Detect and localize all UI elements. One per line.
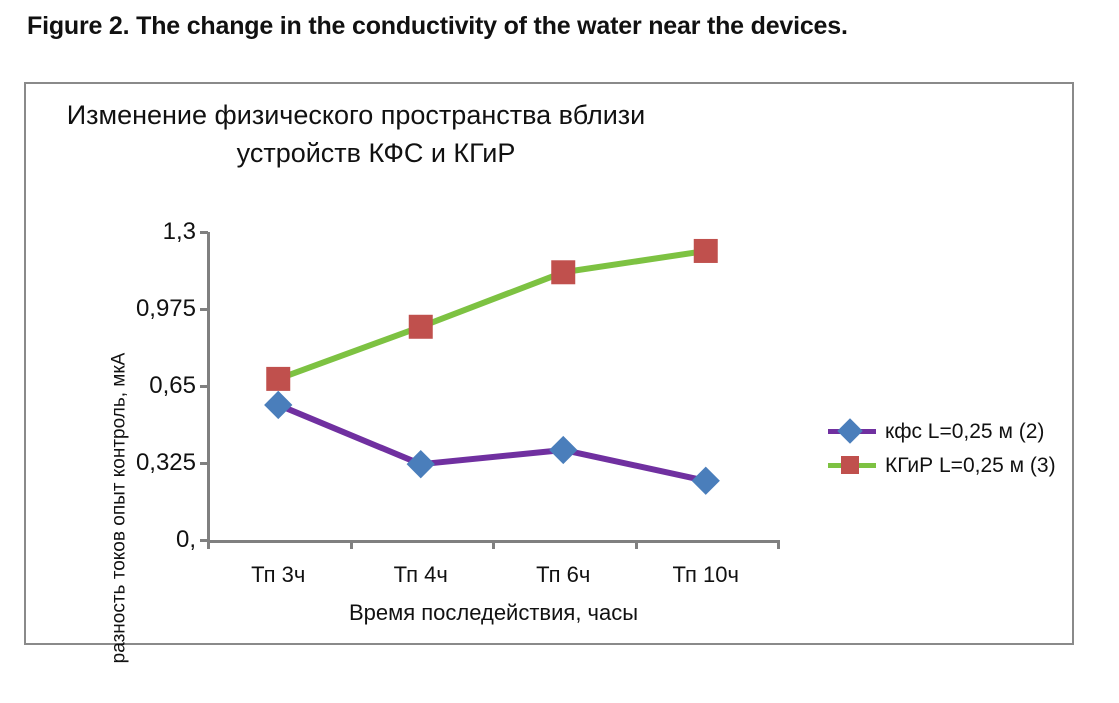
series-1 bbox=[264, 391, 720, 495]
x-tick-label: Тп 3ч bbox=[251, 562, 305, 588]
data-point-diamond bbox=[407, 450, 435, 478]
plot-area: 0,0,3250,650,9751,3 Тп 3чТп 4чТп 6чТп 10… bbox=[207, 232, 777, 540]
data-point-square bbox=[551, 260, 575, 284]
x-tick-label: Тп 6ч bbox=[536, 562, 590, 588]
legend-label: КГиР L=0,25 м (3) bbox=[885, 455, 1056, 476]
y-axis-title: разность токов опыт контроль, мкА bbox=[106, 313, 132, 703]
legend-label: кфс L=0,25 м (2) bbox=[885, 421, 1044, 442]
x-tick-label: Тп 4ч bbox=[394, 562, 448, 588]
legend-marker-diamond-icon bbox=[837, 418, 862, 443]
y-tick-label: 0,325 bbox=[136, 449, 196, 477]
data-point-diamond bbox=[692, 467, 720, 495]
chart-title-line-1: Изменение физического пространства вблиз… bbox=[26, 96, 726, 134]
figure-caption: Figure 2. The change in the conductivity… bbox=[27, 12, 1087, 41]
y-tick-label: 0,975 bbox=[136, 295, 196, 323]
legend-key-icon bbox=[828, 420, 876, 442]
legend-marker-square-icon bbox=[841, 456, 859, 474]
data-point-diamond bbox=[264, 391, 292, 419]
x-tick-label: Тп 10ч bbox=[673, 562, 739, 588]
legend-key-icon bbox=[828, 454, 876, 476]
data-point-square bbox=[694, 239, 718, 263]
chart-title: Изменение физического пространства вблиз… bbox=[26, 96, 726, 173]
y-tick-label: 0,65 bbox=[149, 372, 196, 400]
data-point-square bbox=[409, 315, 433, 339]
data-point-square bbox=[266, 367, 290, 391]
x-tick-mark bbox=[777, 540, 780, 549]
y-tick-label: 1,3 bbox=[163, 218, 196, 246]
y-tick-label: 0, bbox=[176, 526, 196, 554]
chart-title-line-2: устройств КФС и КГиР bbox=[26, 134, 726, 172]
series-2 bbox=[266, 239, 718, 391]
series-line bbox=[278, 251, 706, 379]
series-plot bbox=[207, 232, 777, 543]
legend-item-2[interactable]: КГиР L=0,25 м (3) bbox=[828, 448, 1078, 482]
chart-legend: кфс L=0,25 м (2)КГиР L=0,25 м (3) bbox=[828, 414, 1078, 482]
chart-container: Изменение физического пространства вблиз… bbox=[24, 82, 1074, 645]
data-point-diamond bbox=[549, 436, 577, 464]
series-line bbox=[278, 405, 706, 481]
y-axis-title-text: разность токов опыт контроль, мкА bbox=[108, 353, 130, 664]
legend-item-1[interactable]: кфс L=0,25 м (2) bbox=[828, 414, 1078, 448]
x-axis-title: Время последействия, часы bbox=[207, 600, 780, 626]
